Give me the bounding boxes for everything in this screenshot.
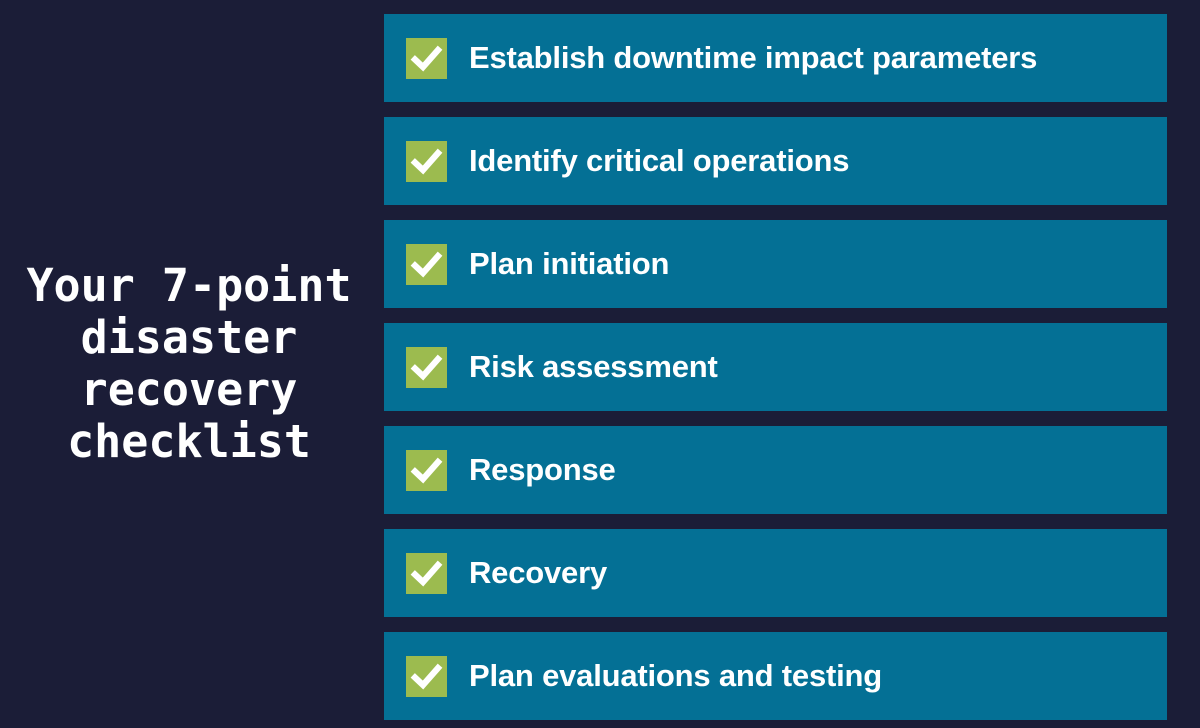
checklist-item-1[interactable]: Establish downtime impact parameters xyxy=(384,14,1167,102)
checklist-item-6[interactable]: Recovery xyxy=(384,529,1167,617)
checklist-item-4[interactable]: Risk assessment xyxy=(384,323,1167,411)
checklist-item-3[interactable]: Plan initiation xyxy=(384,220,1167,308)
check-icon[interactable] xyxy=(406,450,447,491)
page-title: Your 7-point disaster recovery checklist xyxy=(6,260,372,468)
checklist-item-label: Response xyxy=(469,453,1167,487)
checklist-item-2[interactable]: Identify critical operations xyxy=(384,117,1167,205)
check-icon[interactable] xyxy=(406,656,447,697)
check-icon[interactable] xyxy=(406,347,447,388)
title-panel: Your 7-point disaster recovery checklist xyxy=(0,0,378,728)
checklist-item-label: Risk assessment xyxy=(469,350,1167,384)
check-icon[interactable] xyxy=(406,141,447,182)
checklist-item-label: Plan evaluations and testing xyxy=(469,659,1167,693)
disaster-recovery-checklist-infographic: Your 7-point disaster recovery checklist… xyxy=(0,0,1200,728)
checklist-item-label: Recovery xyxy=(469,556,1167,590)
check-icon[interactable] xyxy=(406,38,447,79)
checklist-item-label: Identify critical operations xyxy=(469,144,1167,178)
checklist-item-7[interactable]: Plan evaluations and testing xyxy=(384,632,1167,720)
checklist-item-label: Establish downtime impact parameters xyxy=(469,41,1167,75)
checklist-item-label: Plan initiation xyxy=(469,247,1167,281)
check-icon[interactable] xyxy=(406,553,447,594)
checklist: Establish downtime impact parameters Ide… xyxy=(384,14,1167,720)
checklist-item-5[interactable]: Response xyxy=(384,426,1167,514)
check-icon[interactable] xyxy=(406,244,447,285)
